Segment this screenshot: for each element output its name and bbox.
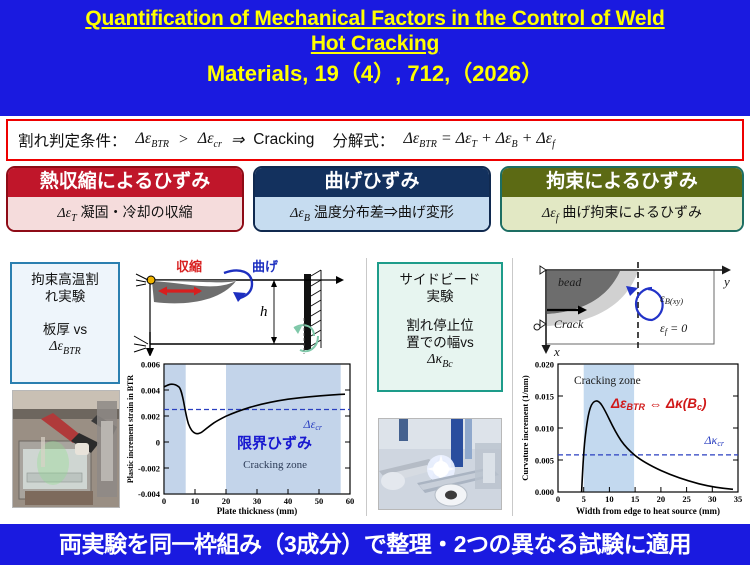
criterion-lhs: ΔεBTR [136, 130, 169, 150]
content-area: 拘束高温割 れ実験 板厚 vs ΔεBTR [0, 258, 750, 524]
x-tick-20: 20 [222, 496, 231, 506]
column-thermal: 熱収縮によるひずみ ΔεT 凝固・冷却の収縮 [6, 166, 244, 232]
y2-tick-0.000: 0.000 [535, 487, 554, 497]
center-info-line-2: 実験 [383, 288, 497, 305]
left-info-symbol: ΔεBTR [16, 338, 114, 360]
y2-axis-label: Curvature increment (1/mm) [520, 375, 530, 481]
side-bead-welding-photo [378, 418, 502, 510]
criterion-operator: > [178, 131, 189, 149]
y-tick-0.002: 0.002 [141, 412, 160, 422]
column-restraint-header: 拘束によるひずみ [502, 168, 742, 197]
column-bending: 曲げひずみ ΔεB 温度分布差⇒曲げ変形 [253, 166, 491, 232]
column-bending-header: 曲げひずみ [255, 168, 489, 197]
x-tick-0: 0 [162, 496, 166, 506]
decomposition-label: 分解式： [332, 129, 394, 151]
left-experiment-info-box: 拘束高温割 れ実験 板厚 vs ΔεBTR [10, 262, 120, 384]
paper-title-line-2: Hot Cracking [0, 31, 750, 56]
y-tick-0.006: 0.006 [141, 360, 160, 370]
x-tick-30: 30 [253, 496, 262, 506]
left-schematic-diagram: 収縮 曲げ [128, 258, 360, 358]
y-tick-0: 0 [156, 438, 160, 448]
y-tick-0.004: 0.004 [141, 386, 161, 396]
criterion-rhs: Δεcr [198, 130, 222, 150]
x-tick-50: 50 [315, 496, 324, 506]
chart-plate-thickness: 0.006 0.004 0.002 0 -0.002 -0.004 [122, 356, 362, 516]
criterion-formula-box: 割れ判定条件： ΔεBTR > Δεcr ⇒ Cracking 分解式： ΔεB… [6, 119, 744, 161]
column-restraint-subtitle: Δεf 曲げ拘束によるひずみ [502, 197, 742, 230]
center-experiment-info-box: サイドビード 実験 割れ停止位 置での幅vs ΔκBc [377, 262, 503, 392]
x-tick-40: 40 [284, 496, 293, 506]
bend-label: 曲げ [252, 259, 279, 274]
center-info-line-3: 割れ停止位 [383, 317, 497, 334]
x2-tick-10: 10 [605, 494, 614, 504]
center-info-line-4: 置での幅vs [383, 334, 497, 351]
column-restraint: 拘束によるひずみ Δεf 曲げ拘束によるひずみ [500, 166, 744, 232]
column-thermal-header: 熱収縮によるひずみ [8, 168, 242, 197]
x2-tick-20: 20 [657, 494, 666, 504]
y2-tick-0.010: 0.010 [535, 424, 554, 434]
title-banner: Quantification of Mechanical Factors in … [0, 0, 750, 116]
x2-tick-5: 5 [582, 494, 586, 504]
y-tick--0.002: -0.002 [138, 464, 160, 474]
y-axis-label: Plastic increment strain in BTR [126, 375, 135, 484]
height-label: h [260, 304, 268, 320]
x2-tick-0: 0 [556, 494, 560, 504]
axis-label-y: y [722, 274, 730, 289]
pin-support-icon [136, 274, 155, 286]
left-info-line-2: れ実験 [16, 288, 114, 305]
chart-width-heat-source: 0.020 0.015 0.010 0.005 0.000 [516, 356, 748, 518]
annotation-cracking-zone: Cracking zone [243, 459, 307, 471]
decomposition-equation: ΔεBTR = ΔεT + ΔεB + Δεf [403, 130, 554, 150]
divider-left [366, 258, 367, 516]
criterion-label: 割れ判定条件： [18, 129, 127, 151]
y2-tick-0.020: 0.020 [535, 360, 554, 370]
annotation2-cracking-zone: Cracking zone [574, 375, 641, 387]
shrink-label: 収縮 [176, 259, 202, 274]
x2-tick-25: 25 [682, 494, 691, 504]
x2-tick-15: 15 [631, 494, 640, 504]
left-info-line-3: 板厚 vs [16, 321, 114, 338]
journal-citation: Materials, 19（4）, 712,（2026） [0, 59, 750, 89]
column-thermal-subtitle: ΔεT 凝固・冷却の収縮 [8, 197, 242, 230]
support-icons [534, 266, 546, 330]
y2-tick-0.015: 0.015 [535, 392, 554, 402]
annotation-limit-strain: 限界ひずみ [237, 434, 312, 452]
bead-label: bead [558, 275, 582, 289]
paper-title-line-1: Quantification of Mechanical Factors in … [0, 6, 750, 31]
annotation-equivalence: ΔεBTR ⇔ Δκ(Bc) [610, 396, 707, 412]
implies-arrow-icon: ⇒ [231, 130, 244, 150]
cracking-word: Cracking [253, 131, 314, 149]
y2-tick-0.005: 0.005 [535, 456, 554, 466]
x2-tick-30: 30 [708, 494, 717, 504]
divider-right [512, 258, 513, 516]
right-schematic-diagram: bead Crack εB(xy) εf = 0 y x [520, 258, 744, 360]
center-info-symbol: ΔκBc [383, 351, 497, 373]
x-tick-60: 60 [346, 496, 355, 506]
x2-tick-35: 35 [734, 494, 743, 504]
x2-axis-label: Width from edge to heat source (mm) [576, 506, 720, 516]
x-axis-label: Plate thickness (mm) [217, 506, 298, 516]
left-info-line-1: 拘束高温割 [16, 271, 114, 288]
restraint-strain-label: εf = 0 [660, 321, 687, 336]
conclusion-banner: 両実験を同一枠組み（3成分）で整理・2つの異なる試験に適用 [0, 524, 750, 565]
x-tick-10: 10 [191, 496, 200, 506]
crack-label: Crack [554, 317, 584, 331]
center-info-line-1: サイドビード [383, 271, 497, 288]
restraint-test-photo [12, 390, 120, 508]
column-bending-subtitle: ΔεB 温度分布差⇒曲げ変形 [255, 197, 489, 230]
y-tick--0.004: -0.004 [138, 489, 161, 499]
